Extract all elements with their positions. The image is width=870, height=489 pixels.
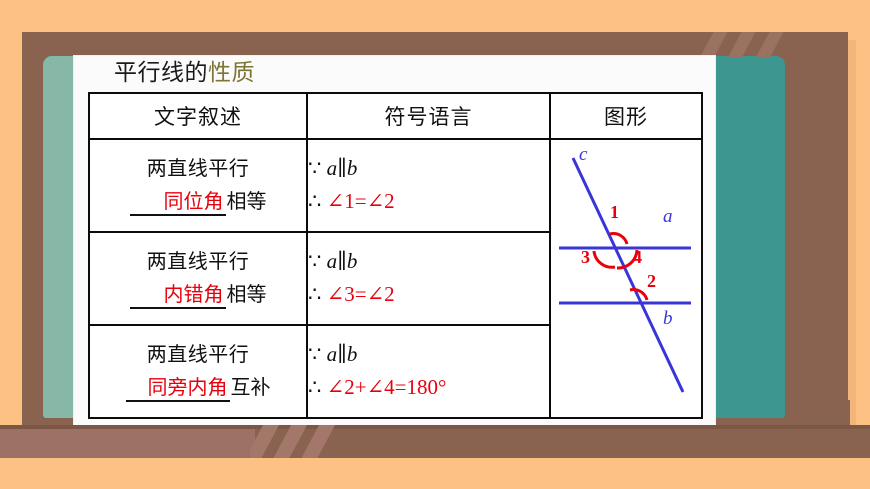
table-row: 两直线平行 同位角相等 ∵ a∥b ∴ ∠1=∠2 (89, 139, 702, 232)
page-title-main: 平行线的 (114, 59, 208, 85)
because-symbol-row2: ∵ (308, 249, 321, 273)
chalkboard-ledge-edge (0, 425, 870, 429)
line-label-a: a (663, 206, 673, 228)
description-blank-row2: 内错角 (130, 284, 226, 309)
therefore-symbol-row1: ∴ (308, 189, 321, 213)
because-symbol-row1: ∵ (308, 156, 321, 180)
description-tail-row3: 互补 (231, 377, 271, 399)
description-blank-row3: 同旁内角 (126, 377, 230, 402)
slide-canvas: 平行线的性质 文字叙述 符号语言 图形 两直线平行 (0, 0, 870, 489)
description-line2-row1: 同位角相等 (90, 189, 306, 215)
geometry-figure: c a b 1 3 4 2 (551, 140, 701, 417)
column-header-symbolic-language: 符号语言 (307, 93, 550, 139)
symbolic-line2-body-row3: ∠2+∠4=180° (327, 375, 447, 399)
symbolic-cell-row1: ∵ a∥b ∴ ∠1=∠2 (307, 139, 550, 232)
line-label-c: c (579, 144, 587, 166)
page-title: 平行线的性质 (114, 56, 255, 89)
because-symbol-row3: ∵ (308, 342, 321, 366)
symbolic-line1-row2: ∵ a∥b (308, 247, 549, 277)
properties-table: 文字叙述 符号语言 图形 两直线平行 同位角相等 ∵ a∥b ∴ (88, 92, 703, 419)
column-header-figure: 图形 (550, 93, 702, 139)
angle-label-2: 2 (647, 271, 656, 292)
page-title-accent: 性质 (208, 59, 255, 85)
transversal-line-c (573, 158, 683, 392)
description-blank-row1: 同位角 (130, 191, 226, 216)
angle-label-4: 4 (633, 247, 642, 268)
symbolic-line1-body-row2: a∥b (327, 249, 358, 273)
description-tail-row1: 相等 (227, 191, 267, 213)
symbolic-line2-body-row1: ∠1=∠2 (327, 189, 395, 213)
description-line1-row1: 两直线平行 (90, 156, 306, 182)
ledge-stripe-decoration (250, 425, 360, 458)
symbolic-cell-row3: ∵ a∥b ∴ ∠2+∠4=180° (307, 325, 550, 418)
description-line2-row2: 内错角相等 (90, 282, 306, 308)
line-label-b: b (663, 308, 673, 330)
symbolic-line1-row1: ∵ a∥b (308, 154, 549, 184)
figure-cell: c a b 1 3 4 2 (550, 139, 702, 418)
symbolic-cell-row2: ∵ a∥b ∴ ∠3=∠2 (307, 232, 550, 325)
description-line1-row3: 两直线平行 (90, 342, 306, 368)
symbolic-line2-row3: ∴ ∠2+∠4=180° (308, 373, 549, 403)
therefore-symbol-row3: ∴ (308, 375, 321, 399)
symbolic-line1-row3: ∵ a∥b (308, 340, 549, 370)
angle-label-3: 3 (581, 247, 590, 268)
description-line2-row3: 同旁内角互补 (90, 375, 306, 401)
description-cell-row1: 两直线平行 同位角相等 (89, 139, 307, 232)
content-panel: 平行线的性质 文字叙述 符号语言 图形 两直线平行 (74, 56, 715, 427)
top-stripe-decoration (700, 32, 820, 58)
angle-label-1: 1 (610, 202, 619, 223)
description-cell-row2: 两直线平行 内错角相等 (89, 232, 307, 325)
chalkboard-ledge-highlight (0, 425, 255, 458)
therefore-symbol-row2: ∴ (308, 282, 321, 306)
symbolic-line2-row2: ∴ ∠3=∠2 (308, 280, 549, 310)
column-header-text-description: 文字叙述 (89, 93, 307, 139)
description-line1-row2: 两直线平行 (90, 249, 306, 275)
symbolic-line1-body-row1: a∥b (327, 156, 358, 180)
table-header-row: 文字叙述 符号语言 图形 (89, 93, 702, 139)
symbolic-line2-body-row2: ∠3=∠2 (327, 282, 395, 306)
symbolic-line2-row1: ∴ ∠1=∠2 (308, 187, 549, 217)
description-tail-row2: 相等 (227, 284, 267, 306)
geometry-diagram-svg (551, 140, 699, 405)
symbolic-line1-body-row3: a∥b (327, 342, 358, 366)
angle-3-arc (594, 251, 615, 267)
description-cell-row3: 两直线平行 同旁内角互补 (89, 325, 307, 418)
